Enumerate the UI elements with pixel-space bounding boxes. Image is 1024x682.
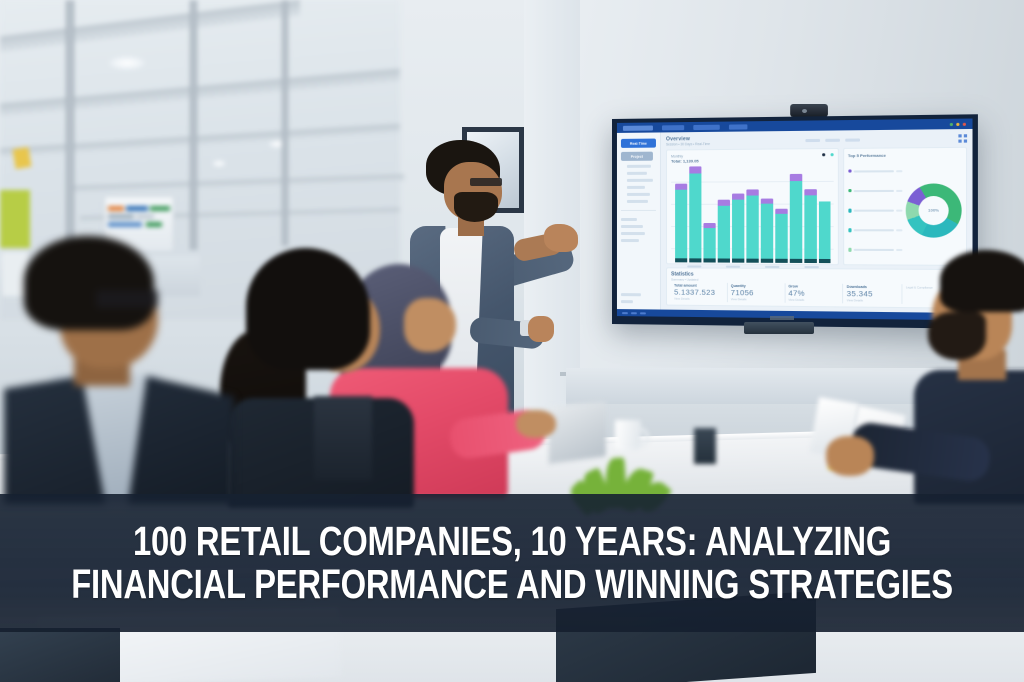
performance-item-name — [854, 249, 894, 251]
sidebar-item-settings[interactable] — [621, 293, 641, 296]
bar-body-segment — [789, 181, 801, 259]
performance-item-value — [896, 249, 902, 251]
maximize-dot[interactable] — [956, 122, 959, 125]
bar-body-segment — [718, 206, 730, 259]
bar-body-segment — [703, 228, 715, 258]
bar-base-segment — [689, 258, 701, 262]
topbar-tab-about[interactable] — [729, 124, 747, 129]
bar-body-segment — [804, 195, 816, 259]
bar-base-segment — [675, 258, 687, 262]
dashboard-header-text: Overview Session • 30 Days • Real-Time — [666, 136, 710, 147]
footer-item[interactable] — [631, 312, 637, 314]
sidebar-item-revenue[interactable] — [627, 193, 650, 196]
bar-body-segment — [732, 200, 744, 259]
chart-bar — [775, 209, 787, 263]
performance-item-name — [854, 229, 894, 231]
donut-center-label: 100% — [919, 196, 949, 225]
statistic-card: Grow47%View Details — [785, 283, 843, 303]
statistic-footnote[interactable]: View Details — [731, 297, 781, 302]
chart-label-total: Total: 1,139.05 — [671, 158, 699, 163]
display-wall-mount — [744, 322, 814, 334]
woman-hair — [246, 248, 370, 370]
chart-bar — [818, 201, 831, 263]
sidebar-divider — [621, 210, 656, 211]
chart-header: Monthly Total: 1,139.05 — [671, 153, 833, 163]
ceiling-light — [212, 160, 226, 167]
performance-list-item[interactable] — [848, 169, 903, 173]
dashboard-widgets-row: Monthly Total: 1,139.05 — [666, 147, 967, 266]
performance-item-value — [896, 190, 902, 192]
legend-swatch-actual — [830, 153, 833, 156]
bar-base-segment — [718, 258, 730, 262]
dashboard-header: Overview Session • 30 Days • Real-Time — [666, 133, 967, 146]
x-tick-label — [726, 266, 740, 268]
whiteboard-note — [136, 214, 154, 219]
footer-item[interactable] — [622, 312, 628, 314]
sidebar-item-security[interactable] — [621, 225, 643, 228]
topbar-tab-accounts[interactable] — [693, 124, 719, 129]
man-right-hair — [940, 250, 1024, 312]
performance-color-swatch — [848, 248, 852, 252]
chart-bar — [689, 166, 701, 262]
chart-bar — [761, 199, 773, 263]
glass-mullion — [66, 0, 74, 262]
sidebar-project-button[interactable]: Project — [621, 152, 653, 161]
statistic-footnote[interactable]: View Details — [847, 298, 899, 303]
performance-item-name — [854, 170, 894, 172]
x-tick-label — [765, 266, 779, 268]
export-button[interactable] — [845, 138, 860, 141]
performance-color-swatch — [848, 228, 852, 232]
bar-base-segment — [804, 259, 816, 263]
dashboard-sidebar: Real-Time Project — [617, 132, 661, 309]
performance-list-item[interactable] — [848, 209, 903, 213]
window-controls — [950, 122, 966, 125]
overview-subtitle: Session • 30 Days • Real-Time — [666, 142, 710, 146]
performance-color-swatch — [848, 169, 852, 173]
whiteboard-note — [108, 214, 134, 219]
bar-body-segment — [675, 190, 687, 259]
sidebar-item-sales[interactable] — [627, 186, 645, 189]
bar-body-segment — [761, 204, 773, 259]
glass-mullion — [190, 0, 197, 250]
woman-top — [314, 396, 372, 480]
chart-legend — [822, 153, 834, 156]
performance-title: Top 5 Performance — [848, 152, 962, 158]
statistic-value: 47% — [788, 288, 839, 298]
whiteboard-note — [108, 222, 142, 227]
man-right-hand — [826, 436, 874, 476]
header-actions — [805, 138, 860, 142]
bar-base-segment — [789, 259, 801, 263]
statistic-card: Downloads35.345View Details — [844, 283, 903, 304]
page-title: 100 RETAIL COMPANIES, 10 YEARS: ANALYZIN… — [71, 520, 953, 607]
sidebar-item-reports[interactable] — [627, 200, 648, 203]
statistic-footnote[interactable]: View Details — [674, 297, 724, 302]
glass-mullion — [282, 0, 288, 246]
sidebar-item-overview[interactable] — [627, 165, 651, 168]
topbar-tab-analytics[interactable] — [623, 125, 653, 130]
desk-object — [694, 428, 716, 464]
bar-base-segment — [703, 258, 715, 262]
chart-bar — [746, 189, 758, 262]
sidebar-item-help[interactable] — [621, 300, 633, 303]
donut-chart: 100% — [906, 183, 962, 237]
bar-chart-plot — [671, 165, 833, 268]
close-dot[interactable] — [963, 122, 966, 125]
whiteboard-note — [108, 206, 124, 211]
chart-bar — [675, 184, 687, 263]
bar-base-segment — [761, 259, 773, 263]
performance-list-item[interactable] — [848, 189, 903, 193]
ceiling-beam — [74, 174, 404, 193]
share-button[interactable] — [805, 138, 820, 141]
topbar-tab-service[interactable] — [662, 125, 684, 130]
person-man-glasses — [0, 236, 260, 500]
bar-base-segment — [775, 259, 787, 263]
sidebar-item-users[interactable] — [621, 218, 637, 221]
chart-bar — [718, 200, 730, 263]
sidebar-item-budget[interactable] — [621, 239, 639, 242]
performance-item-name — [854, 209, 894, 211]
presenter-beard — [454, 192, 498, 222]
title-line-2: FINANCIAL PERFORMANCE AND WINNING STRATE… — [71, 563, 953, 606]
performance-item-name — [854, 190, 894, 192]
minimize-dot[interactable] — [950, 122, 953, 125]
ceiling-beam — [0, 0, 300, 52]
display-brand-logo — [770, 316, 794, 320]
performance-item-value — [896, 229, 902, 231]
title-overlay-band: 100 RETAIL COMPANIES, 10 YEARS: ANALYZIN… — [0, 494, 1024, 632]
performance-content: 100% — [848, 160, 962, 260]
grid-icon[interactable] — [959, 135, 967, 143]
bar-body-segment — [818, 201, 831, 259]
sidebar-realtime-button[interactable]: Real-Time — [621, 139, 656, 148]
footer-item[interactable] — [640, 312, 646, 314]
statistic-value: 35.345 — [847, 289, 899, 299]
performance-item-value — [896, 209, 902, 211]
screenshot-canvas: Real-Time Project — [0, 0, 1024, 682]
statistic-value: 71056 — [731, 288, 781, 298]
hijab-woman-hand — [516, 410, 556, 438]
ceiling-light — [108, 56, 146, 70]
chart-bar — [789, 174, 801, 263]
performance-color-swatch — [848, 189, 852, 193]
ceiling-beam — [0, 124, 400, 157]
chart-bar — [732, 194, 744, 263]
print-button[interactable] — [825, 138, 840, 141]
x-tick-label — [687, 265, 701, 267]
performance-item-value — [896, 170, 902, 172]
statistic-footnote[interactable]: View Details — [788, 298, 839, 303]
performance-list-item[interactable] — [848, 248, 903, 252]
sticky-note — [13, 147, 32, 169]
presenter-glasses — [470, 178, 502, 186]
statistic-card: Quantity71056View Details — [728, 283, 785, 303]
person-man-right — [918, 250, 1024, 500]
performance-color-swatch — [848, 209, 852, 213]
bar-base-segment — [818, 259, 831, 263]
x-tick-label — [804, 266, 819, 268]
man-glasses — [96, 290, 158, 308]
sidebar-item-orders[interactable] — [627, 172, 647, 175]
bar-body-segment — [746, 196, 758, 259]
ceiling-beam — [0, 69, 400, 117]
table-shadow-panel — [0, 628, 120, 682]
bar-cap-segment — [689, 166, 701, 173]
bar-base-segment — [746, 259, 758, 263]
presenter-pointing-hand — [544, 224, 578, 252]
sidebar-item-database[interactable] — [621, 232, 645, 235]
man-hair — [24, 236, 154, 330]
bar-body-segment — [689, 173, 701, 258]
top-performance-card: Top 5 Performance 100% — [843, 147, 967, 266]
whiteboard-note — [126, 206, 148, 211]
sidebar-item-customers[interactable] — [627, 179, 653, 182]
chart-bar — [804, 189, 816, 263]
bar-body-segment — [775, 214, 787, 259]
legend-swatch-target — [822, 153, 825, 156]
bar-cap-segment — [789, 174, 801, 181]
chart-labels: Monthly Total: 1,139.05 — [671, 154, 699, 163]
statistic-card: Total amount5.1337.523View Details — [671, 282, 728, 302]
chart-bar — [703, 223, 715, 263]
statistic-value: 5.1337.523 — [674, 287, 724, 297]
whiteboard-note — [146, 222, 162, 227]
man-right-beard — [928, 312, 986, 360]
whiteboard-note — [150, 206, 170, 211]
title-line-1: 100 RETAIL COMPANIES, 10 YEARS: ANALYZIN… — [133, 518, 891, 564]
bar-base-segment — [732, 259, 744, 263]
performance-list-item[interactable] — [848, 228, 903, 232]
coffee-mug — [615, 420, 641, 450]
performance-list — [848, 161, 903, 260]
bar-chart-card: Monthly Total: 1,139.05 — [666, 148, 838, 265]
conference-webcam-icon — [790, 104, 828, 117]
